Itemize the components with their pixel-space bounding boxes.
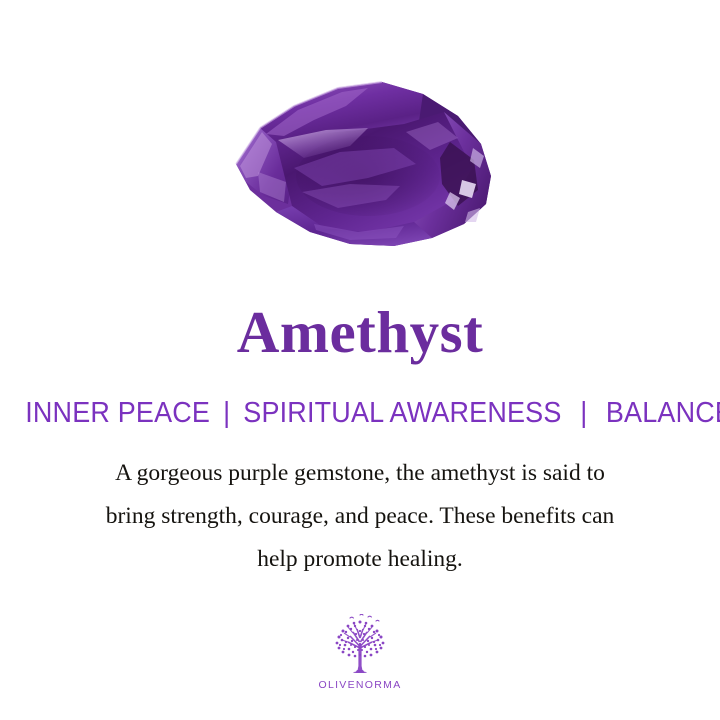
tree-of-life-icon <box>324 614 396 676</box>
keyword-balance: BALANCE <box>606 397 720 429</box>
hero-image-area <box>0 0 720 280</box>
gemstone-description: A gorgeous purple gemstone, the amethyst… <box>50 452 670 581</box>
keyword-spiritual-awareness: SPIRITUAL AWARENESS <box>243 397 561 429</box>
keyword-separator-1: | <box>218 396 236 430</box>
description-line-3: help promote healing. <box>50 538 670 581</box>
gemstone-title: Amethyst <box>0 300 720 364</box>
brand-logo: OLIVENORMA <box>0 614 720 691</box>
amethyst-crystal-image <box>218 72 503 262</box>
description-line-2: bring strength, courage, and peace. Thes… <box>50 495 670 538</box>
amethyst-info-card: Amethyst INNER PEACE | SPIRITUAL AWARENE… <box>0 0 720 720</box>
keyword-list: INNER PEACE | SPIRITUAL AWARENESS | BALA… <box>25 396 695 430</box>
keyword-inner-peace: INNER PEACE <box>25 397 210 429</box>
description-line-1: A gorgeous purple gemstone, the amethyst… <box>50 452 670 495</box>
brand-wordmark: OLIVENORMA <box>0 679 720 691</box>
keyword-separator-2: | <box>569 396 598 430</box>
